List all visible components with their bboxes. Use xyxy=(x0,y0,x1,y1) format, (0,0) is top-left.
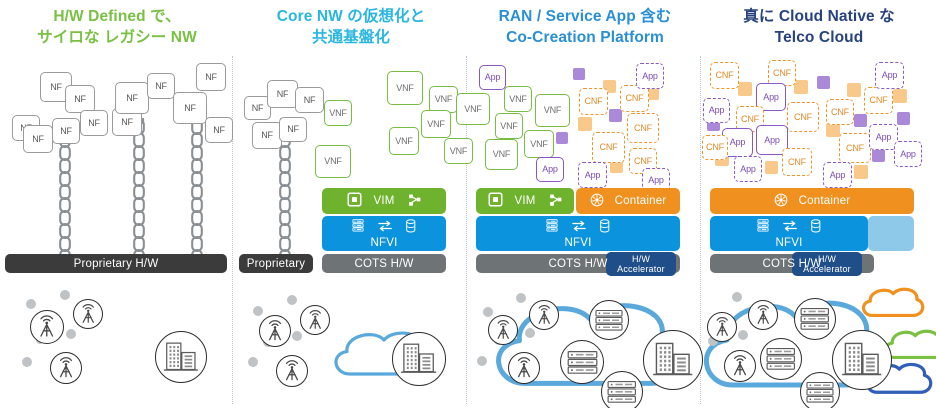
server-icon xyxy=(601,371,643,408)
node-box-vnf[interactable]: VNF xyxy=(315,145,351,178)
stack-bar-nfvi[interactable]: NFVI xyxy=(322,216,446,251)
stack-bar-nfvi[interactable]: NFVI xyxy=(476,216,680,251)
node-box-app[interactable]: App xyxy=(578,162,607,188)
network-switch-icon xyxy=(782,219,798,236)
cell-tower-icon xyxy=(724,350,756,382)
stack-bar-label: Container xyxy=(799,195,851,207)
node-box-nf[interactable]: NF xyxy=(80,110,108,136)
node-box-vnf[interactable]: VNF xyxy=(429,86,458,113)
column-1: NFNFNFNFNFNFNFNFNFNFNFNFProprietary H/W xyxy=(0,0,234,408)
node-box-label: VNF xyxy=(493,150,510,159)
cell-tower-icon xyxy=(276,355,308,387)
node-box-cnf[interactable]: CNF xyxy=(710,62,739,89)
database-icon xyxy=(599,219,610,236)
node-box-nf[interactable]: NF xyxy=(115,82,149,114)
node-box-label: VNF xyxy=(509,95,526,104)
network-switch-icon xyxy=(571,219,587,236)
stack-bar-container[interactable]: Container xyxy=(576,188,680,214)
cell-tower-icon xyxy=(50,352,82,384)
cell-tower-icon xyxy=(300,305,330,335)
decor-dot xyxy=(60,290,70,300)
node-box-label: NF xyxy=(184,104,196,113)
node-box-label: CNF xyxy=(626,94,644,103)
cell-tower-icon xyxy=(73,299,103,329)
node-box-label: CNF xyxy=(831,108,849,117)
server-icon xyxy=(800,372,840,408)
cell-tower-icon xyxy=(529,300,559,330)
office-building-icon xyxy=(155,331,207,383)
node-box-label: NF xyxy=(60,127,72,136)
node-box-nf[interactable]: NF xyxy=(267,80,298,108)
node-box-vnf[interactable]: VNF xyxy=(535,94,570,127)
chain-link-icon xyxy=(189,118,205,262)
stack-bar-cots-h-w[interactable]: COTS H/W xyxy=(322,254,446,273)
decor-square xyxy=(847,83,861,97)
node-box-app[interactable]: App xyxy=(894,141,922,167)
cloud-icon xyxy=(858,283,926,326)
decor-square xyxy=(872,149,885,162)
node-box-label: CNF xyxy=(773,69,791,78)
decor-square xyxy=(794,80,808,94)
office-building-icon xyxy=(392,332,446,386)
cell-tower-icon xyxy=(30,310,64,344)
decor-dot xyxy=(516,293,526,303)
database-icon xyxy=(810,219,821,236)
node-box-label: NF xyxy=(74,95,86,104)
stack-bar-vim[interactable]: VIM xyxy=(476,188,574,214)
node-box-label: CNF xyxy=(870,96,888,105)
node-box-label: App xyxy=(763,93,778,102)
node-box-app[interactable]: App xyxy=(823,162,852,188)
decor-square xyxy=(854,165,868,179)
decor-dot xyxy=(738,330,748,340)
node-box-label: CNF xyxy=(788,158,806,167)
stack-bar-label: NFVI xyxy=(371,237,398,249)
node-box-nf[interactable]: NF xyxy=(205,117,233,143)
stack-bar-label: Container xyxy=(615,195,667,207)
node-box-label: NF xyxy=(205,73,217,82)
server-icon xyxy=(560,340,604,384)
stack-bar-proprietary[interactable]: Proprietary xyxy=(239,254,313,273)
decor-dot xyxy=(253,306,263,316)
stack-bar-nfvi[interactable]: NFVI xyxy=(710,216,868,251)
node-box-vnf[interactable]: VNF xyxy=(387,71,423,105)
column-2: NFNFNFNFNFVNFVNFVNFVNFVNFVNFVNFVNFPropri… xyxy=(234,0,468,408)
stack-bar-label: Proprietary H/W xyxy=(74,258,159,270)
column-3: AppVNFVNFVNFVNFVNFAppCNFCNFAppCNFCNFCNFA… xyxy=(468,0,702,408)
node-box-label: VNF xyxy=(329,109,346,118)
decor-dot xyxy=(732,292,742,302)
stack-bar-label: VIM xyxy=(514,195,535,207)
decor-square xyxy=(854,114,867,127)
stack-bar-label: COTS H/W xyxy=(762,258,821,270)
node-box-vnf[interactable]: VNF xyxy=(389,127,419,155)
vm-box-icon xyxy=(347,192,362,210)
node-box-label: CNF xyxy=(706,143,724,152)
node-box-nf[interactable]: NF xyxy=(23,125,53,153)
decor-dot xyxy=(22,357,32,367)
kubernetes-helm-icon xyxy=(590,193,604,210)
cell-tower-icon xyxy=(748,300,778,330)
node-box-label: VNF xyxy=(396,84,413,93)
stack-bar-spacer[interactable] xyxy=(868,216,914,251)
decor-square xyxy=(738,82,752,96)
node-box-label: CNF xyxy=(634,157,652,166)
node-box-label: CNF xyxy=(600,143,618,152)
node-box-vnf[interactable]: VNF xyxy=(485,139,518,170)
network-switch-icon xyxy=(377,219,393,236)
kubernetes-helm-icon xyxy=(774,193,788,210)
chain-link-icon xyxy=(131,118,147,262)
node-box-label: App xyxy=(740,165,755,174)
node-box-label: CNF xyxy=(716,71,734,80)
node-box-label: VNF xyxy=(450,147,467,156)
stack-bar-label-2: Accelerator xyxy=(617,264,665,274)
server-rack-icon xyxy=(756,218,770,236)
decor-dot xyxy=(483,307,493,317)
node-box-label: NF xyxy=(252,104,264,113)
slide-canvas: H/W Defined で、 サイロな レガシー NW Core NW の仮想化… xyxy=(0,0,936,408)
decor-square xyxy=(817,76,830,89)
node-box-label: App xyxy=(485,73,500,82)
node-box-app[interactable]: App xyxy=(875,62,904,89)
decor-square xyxy=(897,112,910,125)
office-building-icon xyxy=(832,330,892,390)
node-box-nf[interactable]: NF xyxy=(196,63,226,91)
node-box-label: NF xyxy=(88,119,100,128)
stack-bar-label: H/W xyxy=(632,254,650,264)
decor-dot xyxy=(525,328,535,338)
decor-square xyxy=(573,68,585,80)
node-box-vnf[interactable]: VNF xyxy=(324,100,352,126)
decor-dot xyxy=(287,295,297,305)
stack-bar-label: COTS H/W xyxy=(354,258,413,270)
server-rack-icon xyxy=(351,218,365,236)
node-box-cnf[interactable]: CNF xyxy=(579,88,608,115)
node-box-label: NF xyxy=(213,126,225,135)
node-box-app[interactable]: App xyxy=(703,98,730,123)
node-box-app[interactable]: App xyxy=(536,157,564,182)
stack-bar-label: NFVI xyxy=(776,237,803,249)
node-box-label: CNF xyxy=(794,113,812,122)
stack-bar-vim[interactable]: VIM xyxy=(322,188,446,214)
cell-tower-icon xyxy=(488,315,518,345)
node-box-vnf[interactable]: VNF xyxy=(504,86,532,112)
office-building-icon xyxy=(643,330,703,390)
server-icon xyxy=(794,298,836,340)
network-nodes-icon xyxy=(547,192,562,210)
node-box-label: VNF xyxy=(435,95,452,104)
node-box-label: NF xyxy=(261,131,273,140)
vm-box-icon xyxy=(488,192,503,210)
node-box-label: NF xyxy=(121,118,133,127)
node-box-nf[interactable]: NF xyxy=(173,92,207,124)
node-box-cnf[interactable]: CNF xyxy=(826,99,854,125)
cell-tower-icon xyxy=(707,312,737,342)
node-box-label: App xyxy=(542,165,557,174)
cell-tower-icon xyxy=(508,352,540,384)
node-box-cnf[interactable]: CNF xyxy=(787,102,819,132)
decor-square xyxy=(609,109,622,122)
node-box-label: App xyxy=(709,106,724,115)
node-box-cnf[interactable]: CNF xyxy=(627,113,659,143)
node-box-label: App xyxy=(876,133,891,142)
stack-bar-label: Proprietary xyxy=(247,258,305,270)
stack-bar-proprietary-h-w[interactable]: Proprietary H/W xyxy=(5,254,227,273)
server-icon xyxy=(760,338,802,380)
node-box-cnf[interactable]: CNF xyxy=(592,132,625,163)
node-box-label: CNF xyxy=(585,97,603,106)
decor-dot xyxy=(292,331,302,341)
node-box-label: CNF xyxy=(741,115,759,124)
node-box-label: VNF xyxy=(500,122,517,131)
node-box-nf[interactable]: NF xyxy=(295,87,324,113)
node-box-cnf[interactable]: CNF xyxy=(702,135,728,160)
column-4: CNFCNFAppAppCNFCNFAppAppCNFCNFAppCNFCNFA… xyxy=(702,0,936,408)
node-box-nf[interactable]: NF xyxy=(147,73,175,99)
node-box-vnf[interactable]: VNF xyxy=(524,130,554,158)
decor-square xyxy=(765,161,778,174)
node-box-label: VNF xyxy=(427,120,444,129)
decor-square xyxy=(893,89,907,103)
stack-bar-h-w-accelerator[interactable]: H/WAccelerator xyxy=(606,252,676,276)
node-box-label: App xyxy=(764,136,779,145)
node-box-label: App xyxy=(730,138,745,147)
node-box-label: App xyxy=(585,171,600,180)
node-box-label: NF xyxy=(32,135,44,144)
node-box-label: NF xyxy=(277,90,289,99)
node-box-label: App xyxy=(830,171,845,180)
node-box-cnf[interactable]: CNF xyxy=(620,85,649,112)
node-box-label: NF xyxy=(50,83,62,92)
node-box-nf[interactable]: NF xyxy=(52,118,80,144)
node-box-label: NF xyxy=(155,82,167,91)
node-box-nf[interactable]: NF xyxy=(252,122,282,149)
node-box-label: NF xyxy=(304,96,316,105)
node-box-label: VNF xyxy=(530,140,547,149)
node-box-cnf[interactable]: CNF xyxy=(782,148,812,176)
decor-dot xyxy=(477,356,487,366)
node-box-label: App xyxy=(900,150,915,159)
node-box-label: App xyxy=(642,72,657,81)
decor-square xyxy=(826,123,840,137)
node-box-label: CNF xyxy=(846,144,864,153)
stack-bar-label: NFVI xyxy=(565,237,592,249)
server-rack-icon xyxy=(545,218,559,236)
network-nodes-icon xyxy=(406,192,421,210)
stack-bar-container[interactable]: Container xyxy=(710,188,914,214)
node-box-vnf[interactable]: VNF xyxy=(421,110,451,138)
cell-tower-icon xyxy=(259,315,291,347)
node-box-label: App xyxy=(882,71,897,80)
stack-bar-label: COTS H/W xyxy=(548,258,607,270)
node-box-nf[interactable]: NF xyxy=(65,85,95,113)
server-icon xyxy=(589,300,629,340)
decor-square xyxy=(578,117,592,131)
node-box-label: App xyxy=(648,176,663,185)
node-box-label: VNF xyxy=(395,137,412,146)
node-box-label: NF xyxy=(126,94,138,103)
decor-dot xyxy=(26,299,36,309)
node-box-vnf[interactable]: VNF xyxy=(495,113,523,139)
node-box-label: VNF xyxy=(544,106,561,115)
decor-square xyxy=(556,132,568,144)
node-box-label: CNF xyxy=(634,124,652,133)
stack-bar-label: VIM xyxy=(373,195,394,207)
node-box-nf[interactable]: NF xyxy=(279,117,307,142)
node-box-cnf[interactable]: CNF xyxy=(864,87,893,114)
node-box-app[interactable]: App xyxy=(636,63,664,89)
node-box-app[interactable]: App xyxy=(734,156,762,182)
decor-dot xyxy=(66,329,76,339)
node-box-label: VNF xyxy=(324,157,341,166)
node-box-label: NF xyxy=(287,125,299,134)
node-box-app[interactable]: App xyxy=(479,65,506,90)
node-box-cnf[interactable]: CNF xyxy=(839,133,871,163)
decor-dot xyxy=(248,357,258,367)
database-icon xyxy=(405,219,416,236)
